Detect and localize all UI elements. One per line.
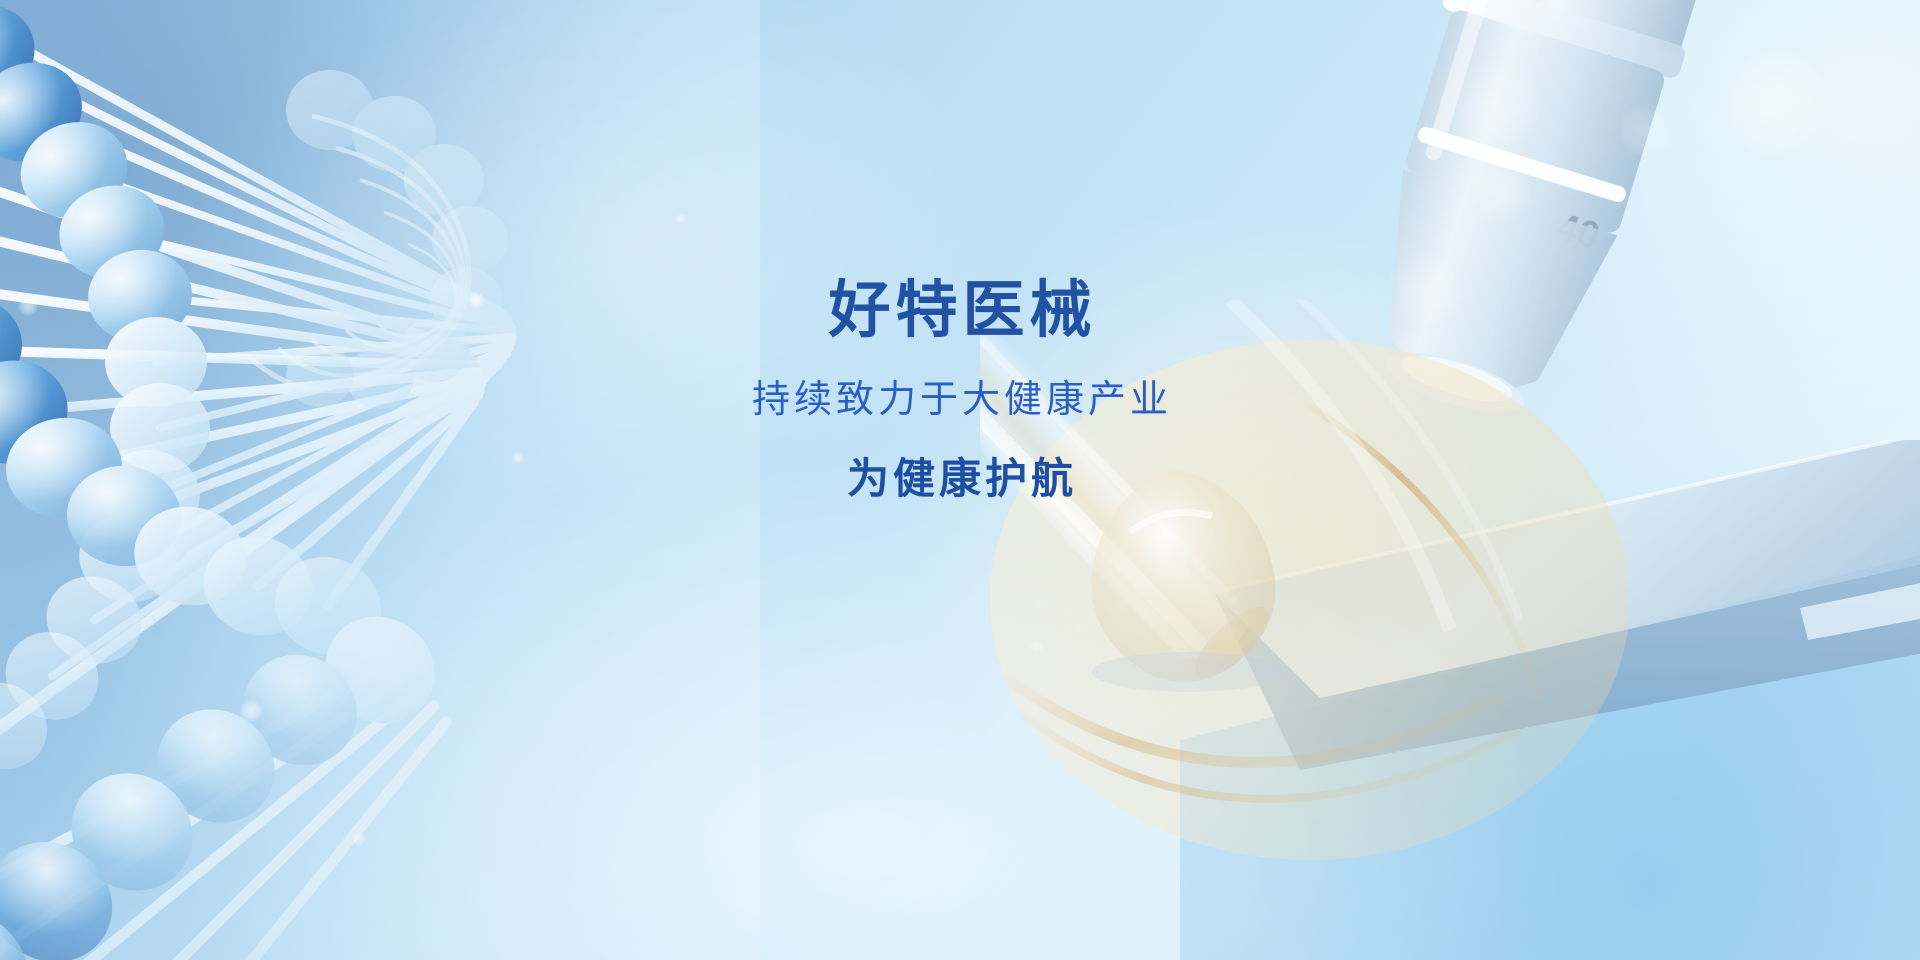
page-subtitle: 持续致力于大健康产业: [0, 380, 1920, 422]
page-slogan: 为健康护航: [0, 456, 1920, 502]
page-title: 好特医械: [0, 278, 1920, 344]
hero-text-block: 好特医械 持续致力于大健康产业 为健康护航: [0, 278, 1920, 502]
hero-banner: 40: [0, 0, 1920, 960]
